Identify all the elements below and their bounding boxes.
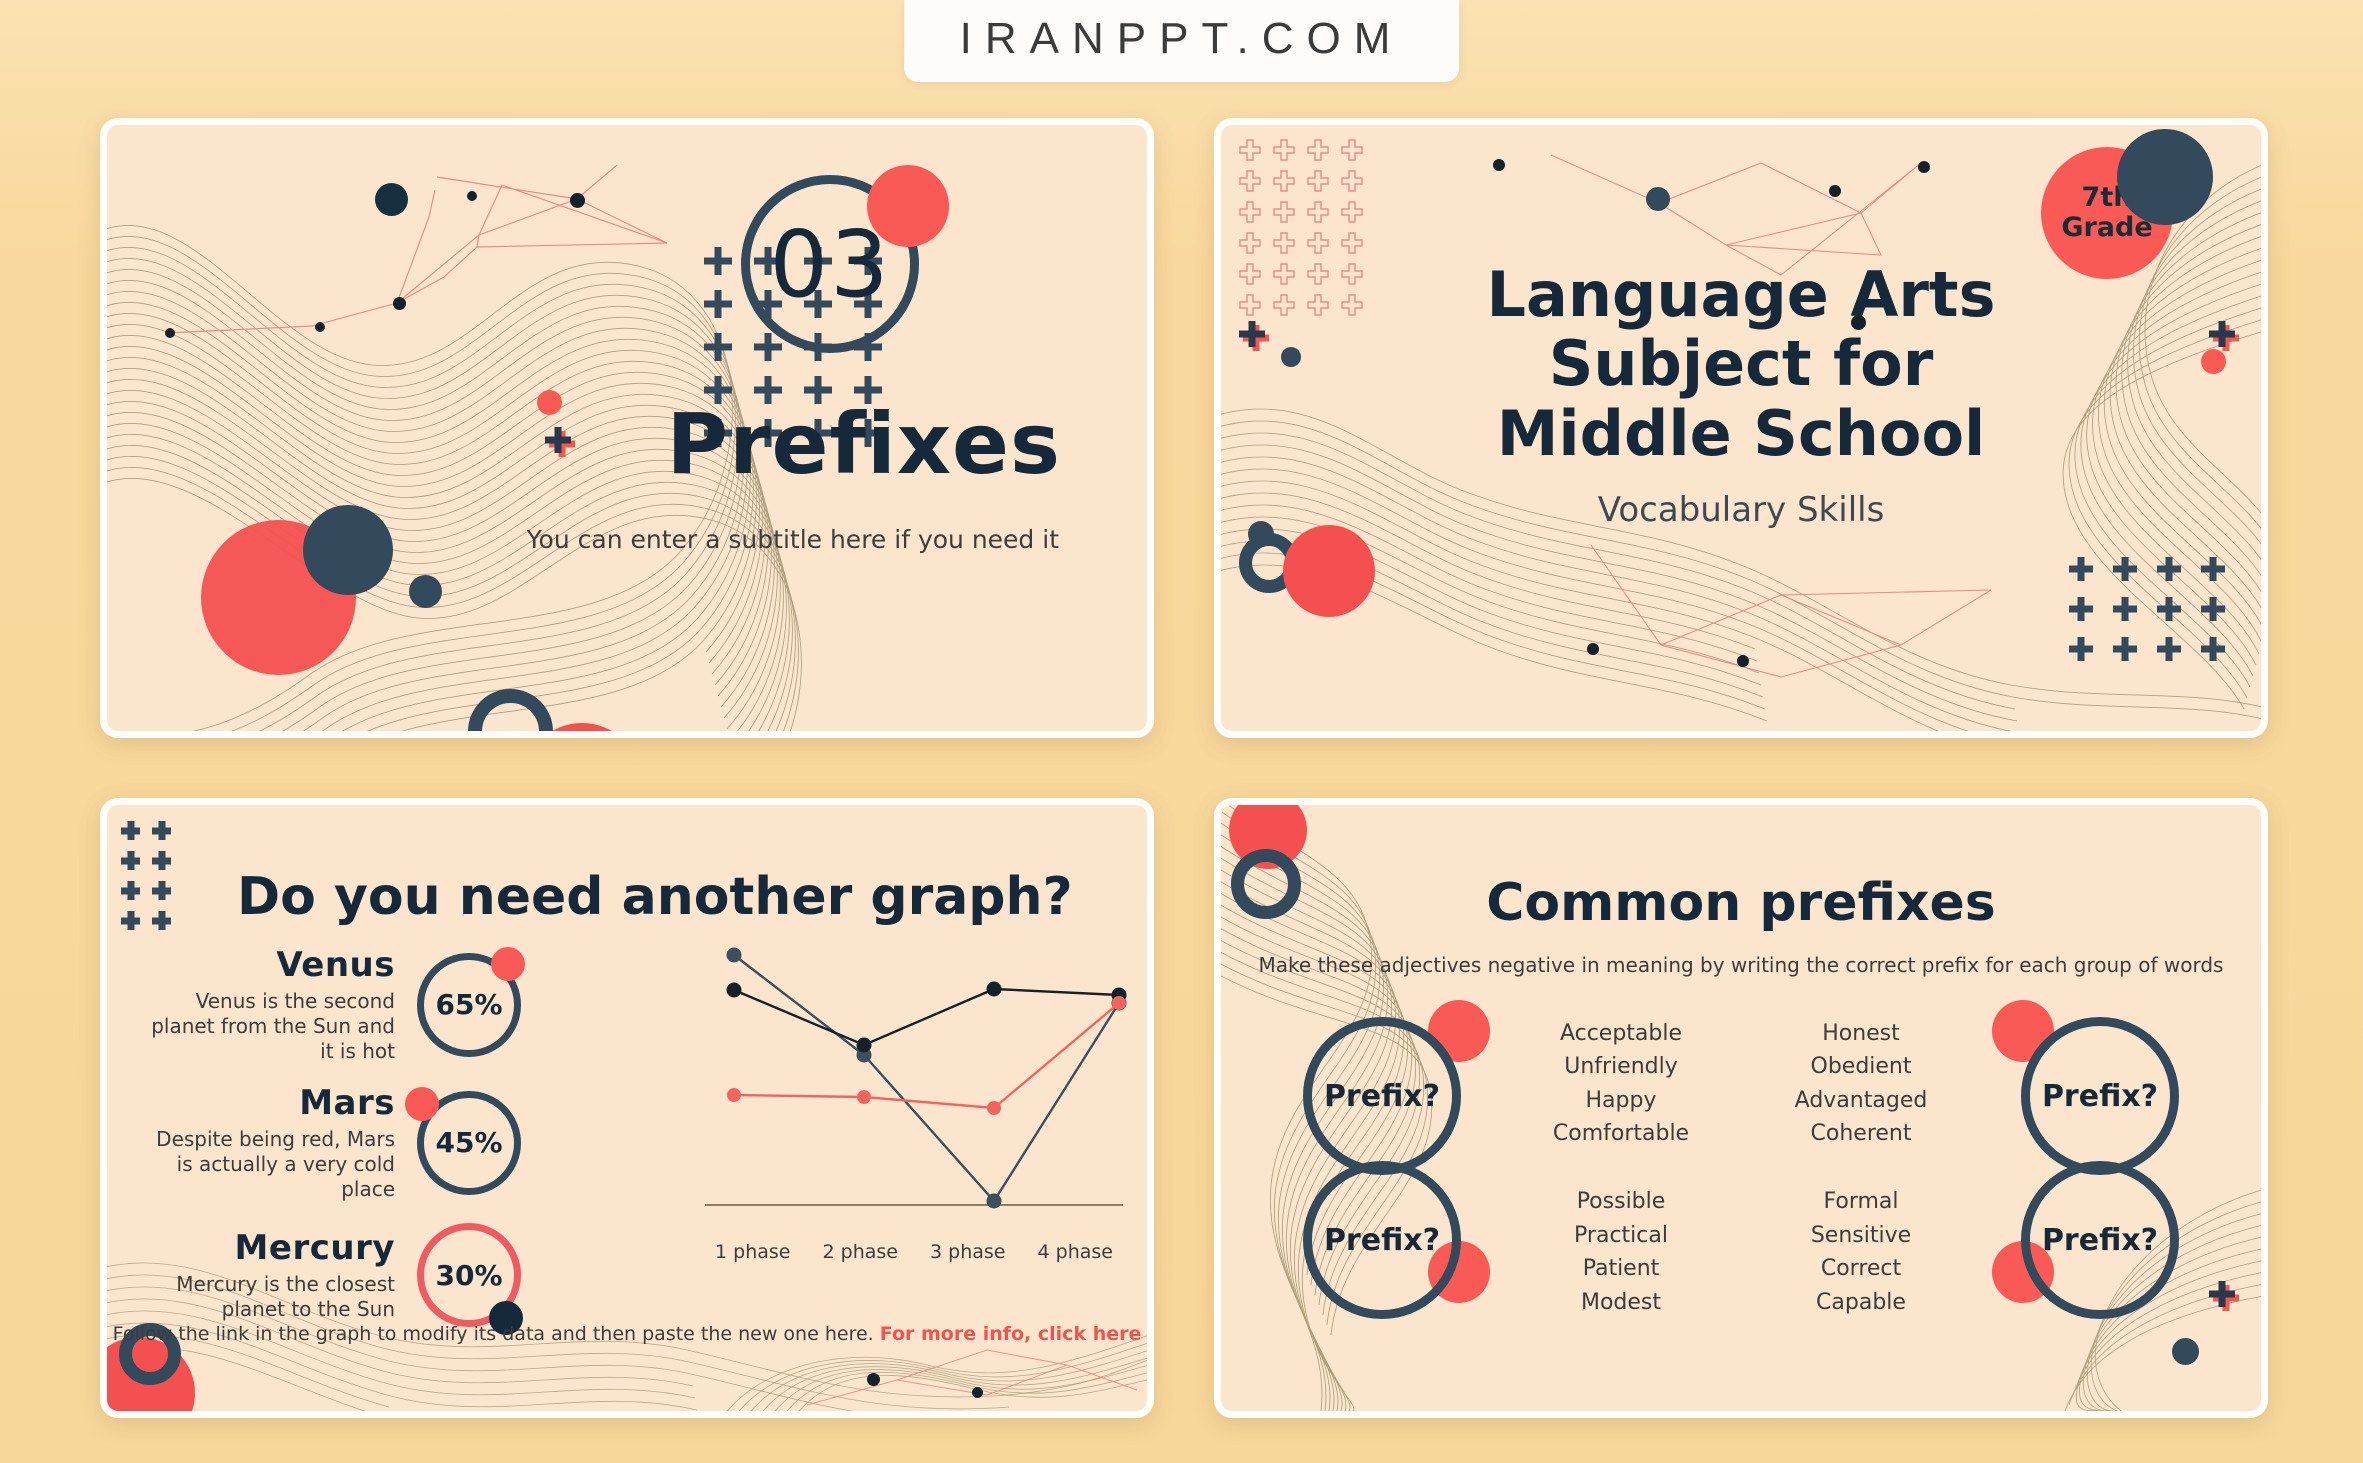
planet-venus-text: Venus Venus is the second planet from th… <box>137 945 417 1064</box>
chart-x-tick: 3 phase <box>930 1241 1005 1263</box>
chart-series-3-point <box>1112 996 1126 1010</box>
decor-circle-red-slide2 <box>1283 525 1375 617</box>
chart-series-2-point <box>857 1038 872 1053</box>
planet-mercury-name: Mercury <box>137 1228 395 1268</box>
planet-mars-bead <box>405 1087 439 1121</box>
chart-x-tick: 4 phase <box>1038 1241 1113 1263</box>
decor-dot-navy-mid <box>409 575 442 608</box>
cover-title: Language Arts Subject for Middle School <box>1221 260 2261 468</box>
word-item: Unfriendly <box>1521 1050 1721 1083</box>
slide-2-canvas: 7th Grade Language Arts Subject for Midd… <box>1221 125 2261 731</box>
chart-series-3-point <box>727 1088 741 1102</box>
word-group-top-right: Honest Obedient Advantaged Coherent <box>1761 1017 1961 1151</box>
site-banner: IRANPPT.COM <box>904 0 1460 82</box>
chart-series-2-point <box>727 983 742 998</box>
word-item: Patient <box>1521 1252 1721 1285</box>
line-chart-plot <box>699 933 1129 1233</box>
prefix-circle-top-right[interactable]: Prefix? <box>2021 1017 2179 1175</box>
word-item: Possible <box>1521 1185 1721 1218</box>
chart-x-tick: 2 phase <box>823 1241 898 1263</box>
decor-circle-navy-medium <box>303 505 393 595</box>
word-item: Formal <box>1761 1185 1961 1218</box>
word-item: Comfortable <box>1521 1117 1721 1150</box>
chart-x-tick-labels: 1 phase 2 phase 3 phase 4 phase <box>699 1241 1129 1263</box>
plus-icon-grid-slide3 <box>121 821 183 941</box>
plus-icon-grid-bottom-right <box>2069 557 2245 677</box>
slide-4-canvas: Common prefixes Make these adjectives ne… <box>1221 805 2261 1411</box>
decor-dot-navy-e <box>1493 159 1505 171</box>
footer-note: Follow the link in the graph to modify i… <box>113 1323 880 1345</box>
decor-dot-navy-large <box>375 183 408 216</box>
decor-dot-navy-f <box>1918 161 1930 173</box>
chart-series-2-point <box>987 982 1002 997</box>
decor-dot-navy-small-2 <box>315 322 325 332</box>
chart-series-3-point <box>857 1090 871 1104</box>
slide-1-title: Prefixes <box>667 395 1061 493</box>
banner-text: IRANPPT.COM <box>960 14 1404 64</box>
planet-venus-name: Venus <box>137 945 395 985</box>
decor-dot-navy-slide3-a <box>867 1373 880 1386</box>
cover-dark-circle <box>2117 129 2213 225</box>
planet-row-mars: Mars Despite being red, Mars is actually… <box>137 1083 521 1202</box>
word-item: Acceptable <box>1521 1017 1721 1050</box>
planet-venus-desc: Venus is the second planet from the Sun … <box>137 989 395 1064</box>
planet-row-mercury: Mercury Mercury is the closest planet to… <box>137 1223 521 1327</box>
word-item: Advantaged <box>1761 1084 1961 1117</box>
chart-series-1-point <box>987 1194 1002 1209</box>
planet-mars-name: Mars <box>137 1083 395 1123</box>
decor-dot-navy-slide3-b <box>972 1387 983 1398</box>
slide-section-divider[interactable]: 03 Prefixes You can enter a subtitle her… <box>100 118 1154 738</box>
prefix-circle-bottom-right[interactable]: Prefix? <box>2021 1161 2179 1319</box>
planet-mercury-gauge: 30% <box>417 1223 521 1327</box>
slide-3-title: Do you need another graph? <box>237 867 1073 927</box>
slide-cover[interactable]: 7th Grade Language Arts Subject for Midd… <box>1214 118 2268 738</box>
slide-3-canvas: Do you need another graph? Venus Venus i… <box>107 805 1147 1411</box>
word-item: Correct <box>1761 1252 1961 1285</box>
word-group-top-left: Acceptable Unfriendly Happy Comfortable <box>1521 1017 1721 1151</box>
plus-outline-icon <box>1239 139 1273 170</box>
chart-series-1-point <box>727 948 742 963</box>
planet-mars-desc: Despite being red, Mars is actually a ve… <box>137 1127 395 1202</box>
word-item: Modest <box>1521 1286 1721 1319</box>
planet-venus-percent: 65% <box>435 988 502 1021</box>
decor-dot-navy-small-5 <box>570 193 585 208</box>
chart-series-3-point <box>987 1101 1001 1115</box>
chart-series-2-line <box>734 989 1119 1045</box>
decor-dot-red-small <box>537 390 562 415</box>
decor-dot-navy-small-4 <box>393 297 406 310</box>
word-item: Practical <box>1521 1219 1721 1252</box>
planet-mercury-desc: Mercury is the closest planet to the Sun <box>137 1272 395 1322</box>
decor-dot-navy-c <box>1646 187 1670 211</box>
planet-mercury-text: Mercury Mercury is the closest planet to… <box>137 1228 417 1322</box>
slide-common-prefixes[interactable]: Common prefixes Make these adjectives ne… <box>1214 798 2268 1418</box>
word-item: Capable <box>1761 1286 1961 1319</box>
decor-dot-navy-g <box>1829 185 1841 197</box>
planet-mars-percent: 45% <box>435 1126 502 1159</box>
slide-graph[interactable]: Do you need another graph? Venus Venus i… <box>100 798 1154 1418</box>
slide-3-footer: Follow the link in the graph to modify i… <box>107 1323 1147 1345</box>
word-item: Honest <box>1761 1017 1961 1050</box>
word-group-bottom-right: Formal Sensitive Correct Capable <box>1761 1185 1961 1319</box>
prefix-circle-top-left[interactable]: Prefix? <box>1303 1017 1461 1175</box>
cover-subtitle: Vocabulary Skills <box>1221 490 2261 530</box>
line-chart[interactable]: 1 phase 2 phase 3 phase 4 phase <box>699 933 1129 1263</box>
section-number-accent-dot <box>867 165 949 247</box>
decor-dot-navy-slide4 <box>2172 1338 2199 1365</box>
slide-4-subtitle: Make these adjectives negative in meanin… <box>1221 953 2261 977</box>
word-item: Coherent <box>1761 1117 1961 1150</box>
word-group-bottom-left: Possible Practical Patient Modest <box>1521 1185 1721 1319</box>
word-item: Obedient <box>1761 1050 1961 1083</box>
planet-row-venus: Venus Venus is the second planet from th… <box>137 945 521 1064</box>
chart-x-tick: 1 phase <box>715 1241 790 1263</box>
planet-mercury-percent: 30% <box>435 1259 502 1292</box>
slide-deck: 03 Prefixes You can enter a subtitle her… <box>100 118 2268 1418</box>
decor-dot-navy-small-1 <box>467 191 477 201</box>
planet-venus-bead <box>491 947 525 981</box>
plus-icon-duo-slide4 <box>2209 1281 2239 1311</box>
footer-link[interactable]: For more info, click here <box>880 1323 1142 1345</box>
plus-icon-duo-1 <box>545 427 575 457</box>
planet-mars-text: Mars Despite being red, Mars is actually… <box>137 1083 417 1202</box>
word-item: Happy <box>1521 1084 1721 1117</box>
slide-1-subtitle: You can enter a subtitle here if you nee… <box>527 525 1059 554</box>
slide-1-canvas: 03 Prefixes You can enter a subtitle her… <box>107 125 1147 731</box>
planet-mars-gauge: 45% <box>417 1091 521 1195</box>
planet-venus-gauge: 65% <box>417 953 521 1057</box>
decor-ring-navy <box>468 689 553 731</box>
slide-4-title: Common prefixes <box>1221 873 2261 933</box>
cover-title-line-2: Subject for <box>1221 329 2261 398</box>
cover-title-line-3: Middle School <box>1221 399 2261 468</box>
prefix-circle-bottom-left[interactable]: Prefix? <box>1303 1161 1461 1319</box>
decor-dot-navy-i <box>1587 643 1599 655</box>
word-item: Sensitive <box>1761 1219 1961 1252</box>
decor-dot-navy-small-3 <box>165 328 175 338</box>
decor-dot-navy-h <box>1737 655 1749 667</box>
